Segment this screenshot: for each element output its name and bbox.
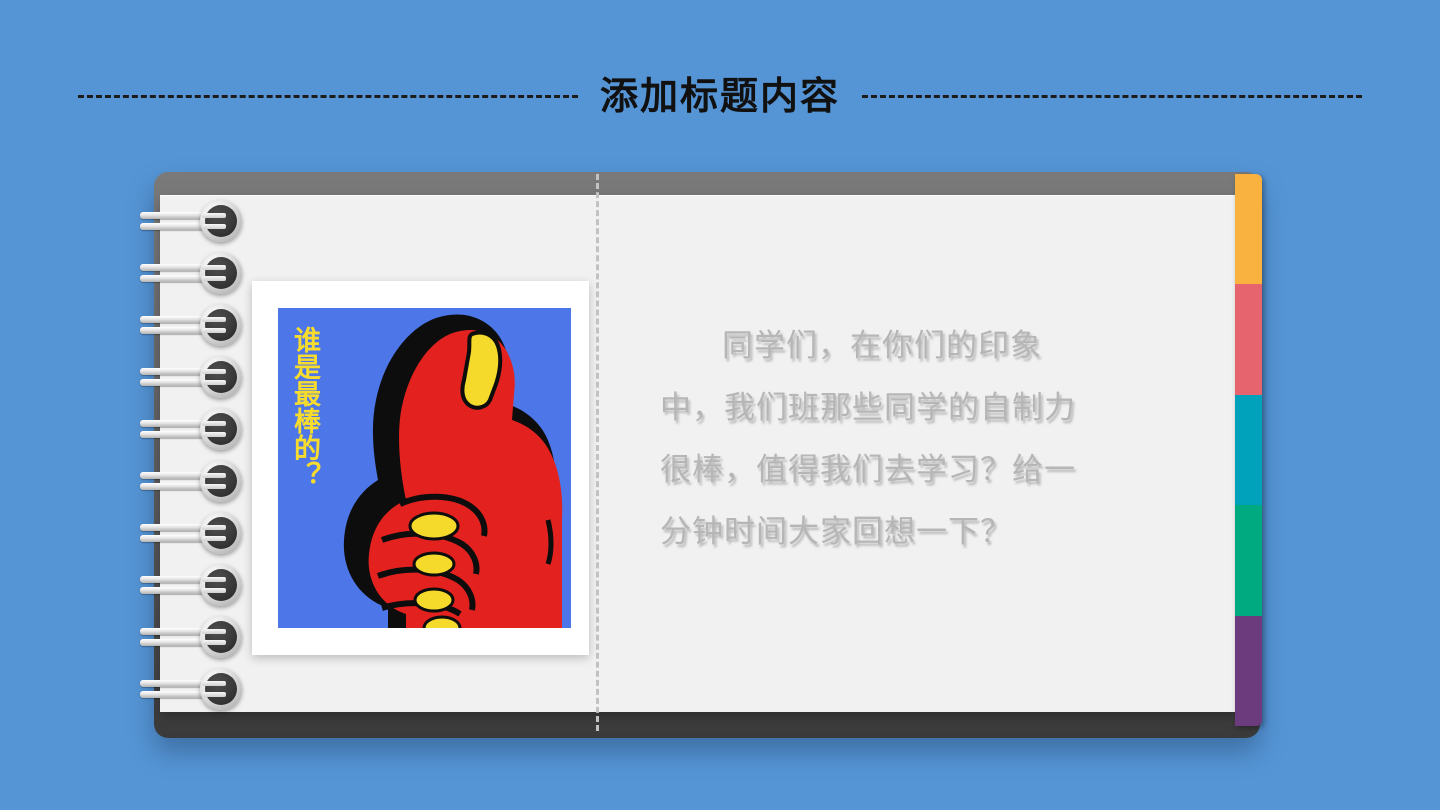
photo-caption: 谁是最棒的？ [286, 326, 330, 488]
page-top-highlight [160, 195, 1236, 196]
slide-canvas: 添加标题内容 谁是最棒的？ [0, 0, 1440, 810]
ring-slot [202, 588, 226, 593]
spiral-binding [140, 200, 250, 710]
binding-ring [140, 408, 250, 450]
page-title: 添加标题内容 [600, 77, 840, 115]
binding-ring [140, 252, 250, 294]
ring-slot [202, 276, 226, 281]
ring-slot [202, 421, 226, 426]
ring-slot [202, 328, 226, 333]
ring-knob [200, 460, 242, 502]
index-tabs [1235, 174, 1262, 726]
title-dash-left [78, 95, 578, 98]
binding-ring [140, 512, 250, 554]
ring-slot [202, 432, 226, 437]
ring-slot [202, 629, 226, 634]
binding-ring [140, 356, 250, 398]
ring-slot [202, 213, 226, 218]
notebook-page: 谁是最棒的？ [160, 195, 1236, 712]
binding-ring [140, 564, 250, 606]
ring-knob [200, 668, 242, 710]
binding-ring [140, 460, 250, 502]
body-paragraph: 同学们，在你们的印象中，我们班那些同学的自制力很棒，值得我们去学习？给一分钟时间… [660, 315, 1090, 563]
ring-slot [202, 380, 226, 385]
ring-knob [200, 616, 242, 658]
binding-ring [140, 200, 250, 242]
page-fold-line [596, 174, 599, 731]
tab-orange[interactable] [1235, 174, 1262, 284]
ring-knob [200, 564, 242, 606]
binding-ring [140, 616, 250, 658]
ring-knob [200, 200, 242, 242]
photo-image: 谁是最棒的？ [278, 308, 571, 628]
ring-knob [200, 304, 242, 346]
photo-frame[interactable]: 谁是最棒的？ [252, 281, 589, 655]
ring-slot [202, 224, 226, 229]
tab-cyan[interactable] [1235, 395, 1262, 505]
tab-green[interactable] [1235, 505, 1262, 615]
ring-knob [200, 512, 242, 554]
title-row: 添加标题内容 [0, 64, 1440, 128]
ring-knob [200, 408, 242, 450]
ring-slot [202, 317, 226, 322]
ring-knob [200, 252, 242, 294]
ring-slot [202, 525, 226, 530]
tab-red[interactable] [1235, 284, 1262, 394]
ring-slot [202, 265, 226, 270]
title-dash-right [862, 95, 1362, 98]
binding-ring [140, 668, 250, 710]
ring-slot [202, 577, 226, 582]
ring-slot [202, 484, 226, 489]
ring-slot [202, 640, 226, 645]
tab-purple[interactable] [1235, 616, 1262, 726]
ring-slot [202, 473, 226, 478]
thumbs-up-icon [330, 308, 571, 628]
ring-slot [202, 692, 226, 697]
notebook: 谁是最棒的？ [154, 172, 1260, 738]
binding-ring [140, 304, 250, 346]
ring-knob [200, 356, 242, 398]
ring-slot [202, 681, 226, 686]
ring-slot [202, 536, 226, 541]
ring-slot [202, 369, 226, 374]
